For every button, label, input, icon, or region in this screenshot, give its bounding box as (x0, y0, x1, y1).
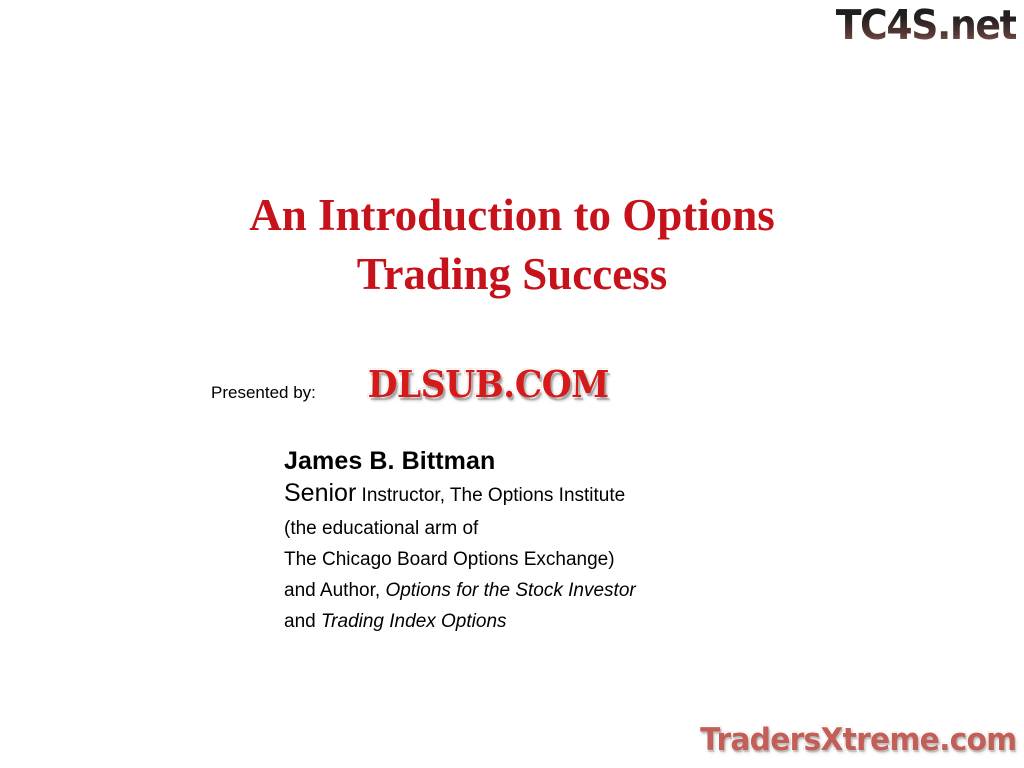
presenter-role-primary: Senior (284, 479, 356, 507)
presenter-author-line-1: and Author, Options for the Stock Invest… (284, 575, 636, 606)
presenter-affiliation-line-1: (the educational arm of (284, 513, 636, 544)
dlsub-logo: DLSUB.COM (367, 363, 609, 405)
slide-title: An Introduction to Options Trading Succe… (0, 186, 1024, 304)
presenter-bio: James B. Bittman Senior Instructor, The … (284, 446, 636, 637)
slide-title-line-1: An Introduction to Options (0, 186, 1024, 245)
tradersxtreme-watermark-text: TradersXtreme.com (700, 722, 1016, 758)
tradersxtreme-watermark: TradersXtreme.com (700, 722, 1016, 758)
book-title-2: Trading Index Options (321, 611, 507, 632)
presenter-name: James B. Bittman (284, 446, 636, 477)
presenter-affiliation-line-2: The Chicago Board Options Exchange) (284, 544, 636, 575)
presenter-role-secondary: Instructor, The Options Institute (362, 485, 626, 506)
and-label: and (284, 611, 316, 632)
slide-title-line-2: Trading Success (0, 245, 1024, 304)
tc4s-watermark: TC4S.net (835, 2, 1016, 48)
presenter-role: Senior Instructor, The Options Institute (284, 477, 636, 513)
dlsub-logo-text: DLSUB.COM (367, 362, 609, 406)
presenter-author-line-2: and Trading Index Options (284, 606, 636, 637)
book-title-1: Options for the Stock Investor (385, 580, 635, 601)
presented-by-label: Presented by: (211, 383, 316, 403)
presentation-slide: TC4S.net An Introduction to Options Trad… (0, 0, 1024, 768)
author-prefix: and Author, (284, 580, 380, 601)
